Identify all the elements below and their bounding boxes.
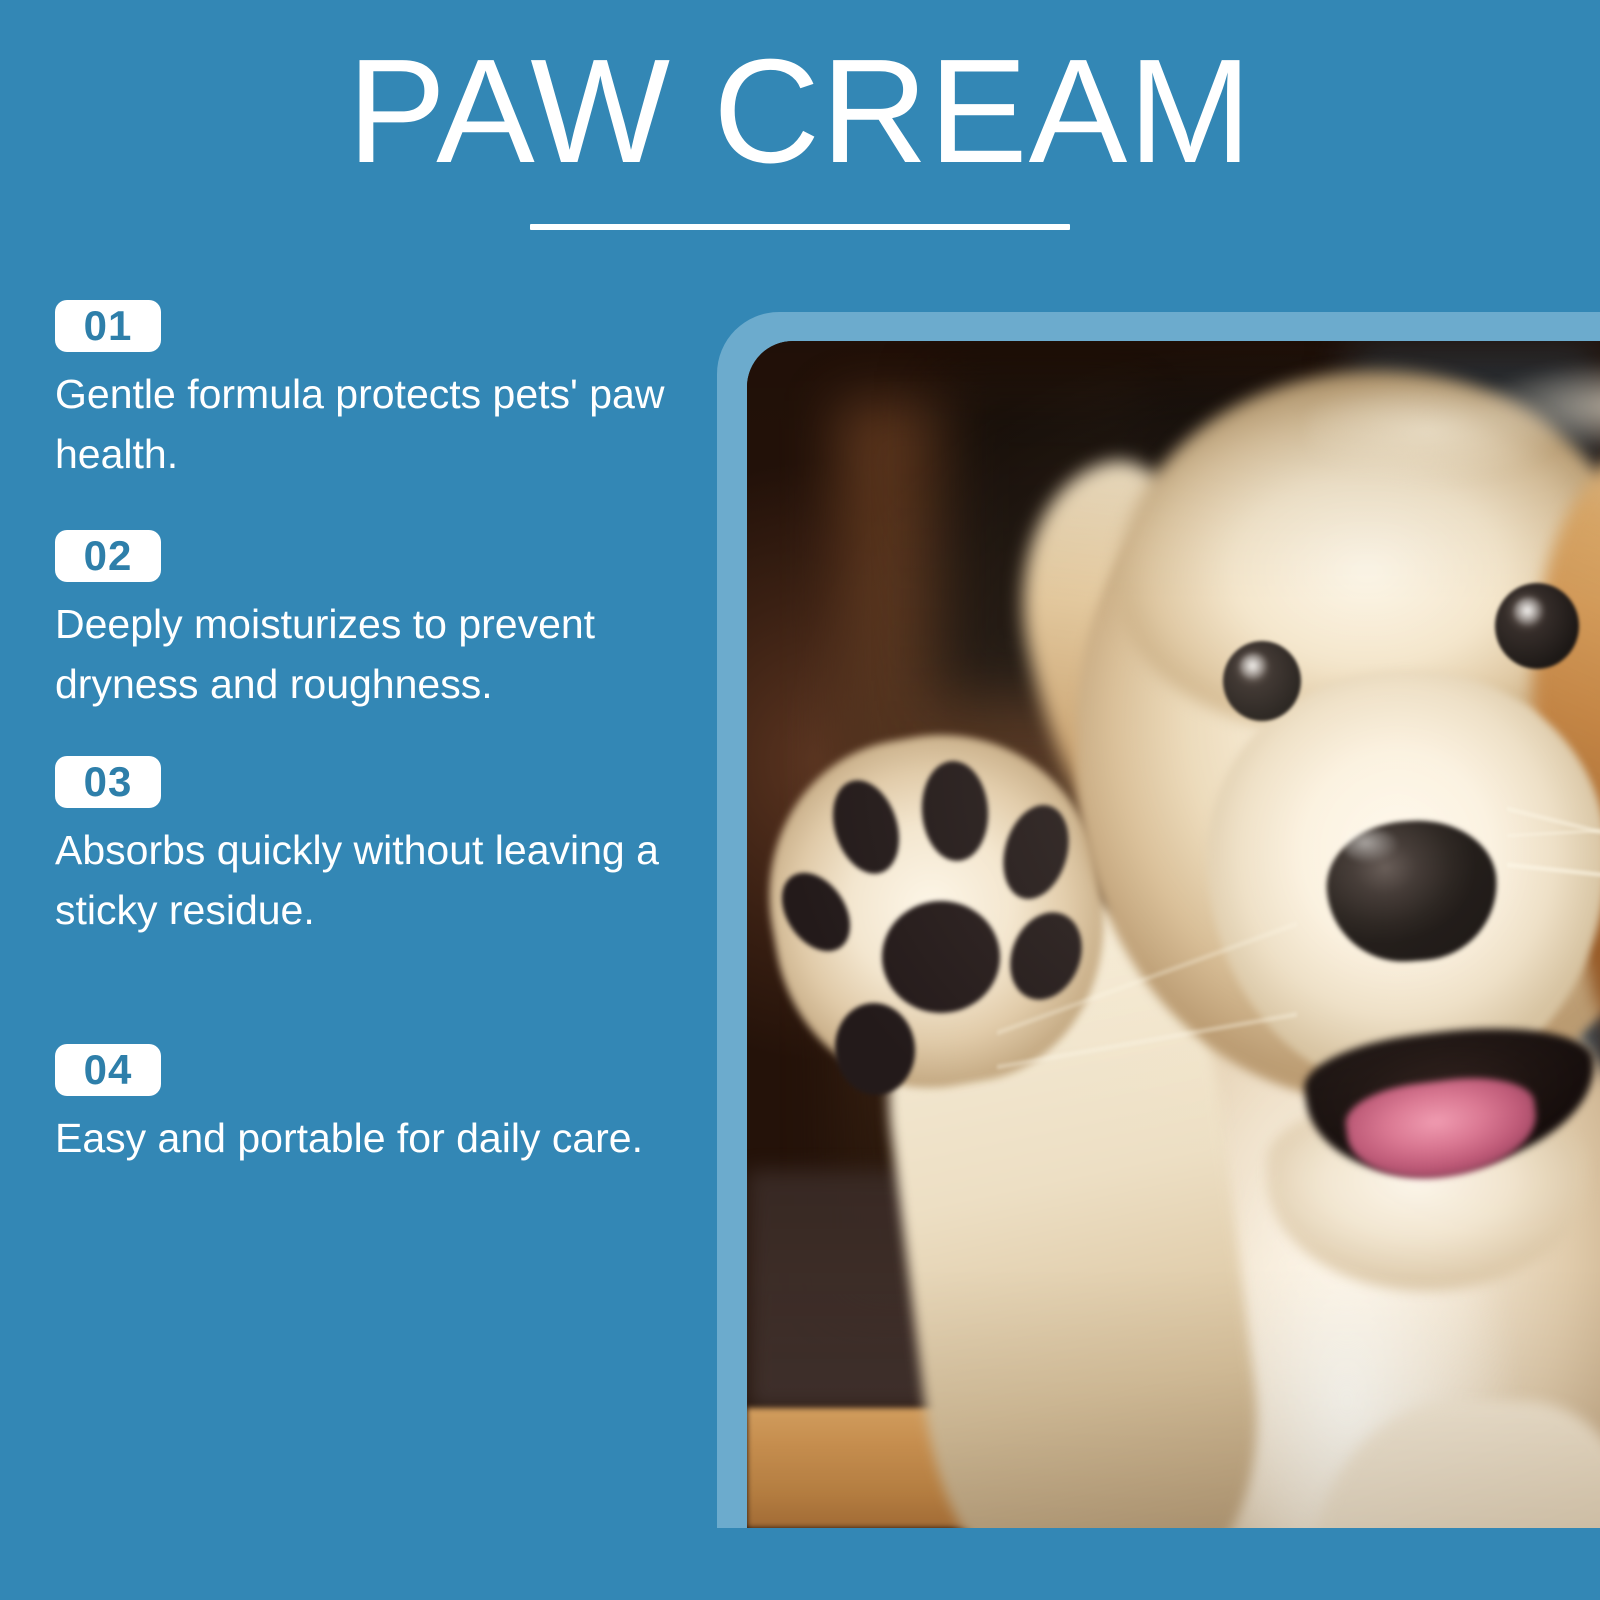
puppy-nose-highlight [1343,829,1399,863]
list-item: 02 Deeply moisturizes to prevent dryness… [55,530,695,714]
puppy-flyaway-fur [1307,341,1600,521]
puppy-eye-left [1223,641,1301,721]
puppy-eye-left-catchlight [1239,653,1269,681]
feature-text-01: Gentle formula protects pets' paw health… [55,364,695,484]
feature-number-badge-01: 01 [55,300,161,352]
puppy-whiskers-left [997,901,1297,1131]
puppy-eye-right-catchlight [1513,597,1545,627]
title-block: PAW CREAM [0,38,1600,230]
paw-pad-center [882,901,1000,1013]
feature-number-badge-03: 03 [55,756,161,808]
list-item: 04 Easy and portable for daily care. [55,1044,695,1168]
paw-cream-poster: PAW CREAM 01 Gentle formula protects pet… [0,0,1600,1600]
feature-text-04: Easy and portable for daily care. [55,1108,695,1168]
puppy-photo [747,341,1600,1528]
puppy-whiskers-right [1507,761,1600,1001]
title-underline-divider [530,224,1070,230]
list-item: 03 Absorbs quickly without leaving a sti… [55,756,695,940]
feature-list: 01 Gentle formula protects pets' paw hea… [55,300,695,1168]
feature-text-03: Absorbs quickly without leaving a sticky… [55,820,695,940]
feature-number-badge-04: 04 [55,1044,161,1096]
puppy-eye-right [1495,583,1579,669]
feature-text-02: Deeply moisturizes to prevent dryness an… [55,594,695,714]
page-title: PAW CREAM [0,38,1600,186]
feature-number-badge-02: 02 [55,530,161,582]
list-item: 01 Gentle formula protects pets' paw hea… [55,300,695,484]
